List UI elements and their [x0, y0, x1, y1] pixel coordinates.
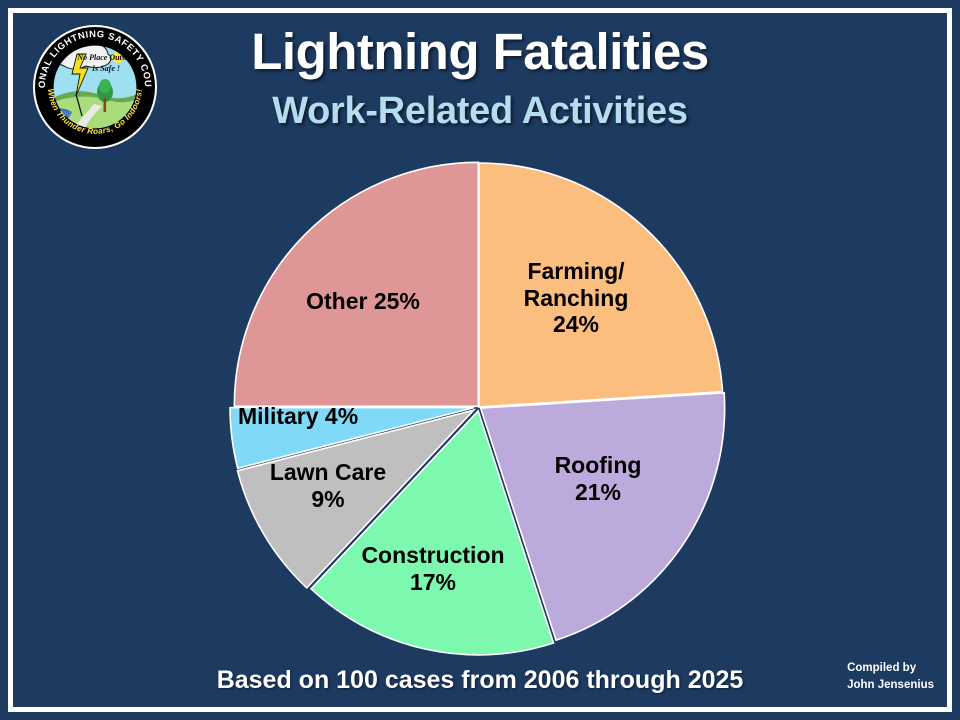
slide-canvas: No Place Outside Is Safe ! NATIONAL LIGH…	[0, 0, 960, 720]
page-title: Lightning Fatalities	[170, 22, 790, 81]
nlsc-logo: No Place Outside Is Safe ! NATIONAL LIGH…	[32, 24, 158, 150]
svg-text:Is Safe !: Is Safe !	[91, 64, 120, 73]
credit-line-1: Compiled by	[847, 660, 934, 677]
pie-slice-farming-ranching	[479, 163, 723, 407]
pie-slice-other	[234, 162, 478, 406]
chart-caption: Based on 100 cases from 2006 through 202…	[0, 666, 960, 695]
page-subtitle: Work-Related Activities	[170, 90, 790, 133]
pie-chart	[228, 156, 730, 658]
credit-line-2: John Jensenius	[847, 677, 934, 694]
credit-block: Compiled by John Jensenius	[847, 660, 934, 695]
